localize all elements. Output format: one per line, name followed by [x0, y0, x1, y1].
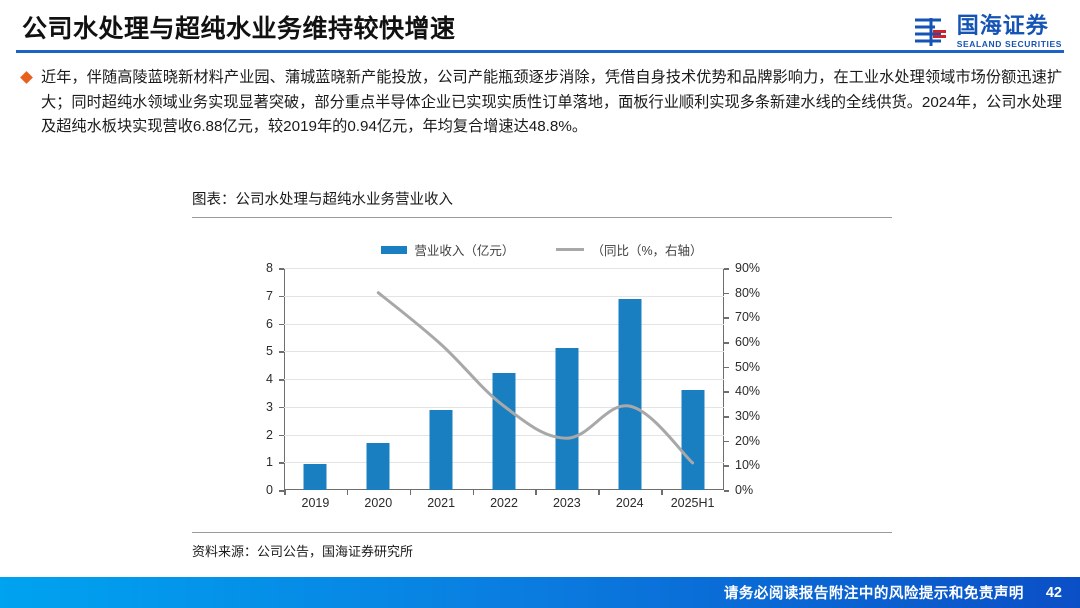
- chart-bar: [493, 373, 516, 490]
- chart-plot-region: 0123456780%10%20%30%40%50%60%70%80%90%: [284, 268, 724, 490]
- legend-bar-swatch-icon: [381, 246, 407, 254]
- y-axis-label-right: 90%: [735, 261, 760, 275]
- legend-label-yoy: （同比（%，右轴）: [591, 240, 702, 259]
- y-axis-tick-right: [724, 416, 729, 418]
- legend-label-revenue: 营业收入（亿元）: [414, 240, 514, 259]
- logo-name-cn: 国海证券: [957, 15, 1062, 37]
- figure-title: 图表：公司水处理与超纯水业务营业收入: [192, 188, 892, 217]
- y-axis-label-right: 40%: [735, 384, 760, 398]
- legend-item-revenue: 营业收入（亿元）: [381, 240, 514, 259]
- y-axis-tick-right: [724, 342, 729, 344]
- y-axis-label-left: 8: [266, 261, 273, 275]
- y-axis-label-left: 0: [266, 483, 273, 497]
- x-axis-tick: [661, 490, 663, 495]
- chart-bar-cell: [598, 268, 661, 490]
- page-header: 公司水处理与超纯水业务维持较快增速 国海证券 SEALAND SECURITIE…: [0, 0, 1080, 58]
- legend-item-yoy: （同比（%，右轴）: [556, 240, 702, 259]
- page-title: 公司水处理与超纯水业务维持较快增速: [22, 9, 456, 45]
- chart-bar: [618, 299, 641, 490]
- y-axis-label-left: 1: [266, 455, 273, 469]
- x-axis-label: 2021: [410, 496, 473, 510]
- x-axis-tick: [410, 490, 412, 495]
- figure-source: 资料来源：公司公告，国海证券研究所: [192, 541, 413, 560]
- page-footer: 请务必阅读报告附注中的风险提示和免责声明 42: [0, 577, 1080, 608]
- y-axis-label-left: 4: [266, 372, 273, 386]
- chart-bar: [681, 390, 704, 490]
- chart-bar-cell: [410, 268, 473, 490]
- x-axis-label: 2024: [598, 496, 661, 510]
- y-axis-label-left: 7: [266, 289, 273, 303]
- y-axis-tick-right: [724, 391, 729, 393]
- y-axis-label-right: 70%: [735, 310, 760, 324]
- y-axis-label-left: 6: [266, 317, 273, 331]
- figure-top-divider: [192, 217, 892, 218]
- x-axis-label: 2025H1: [661, 496, 724, 510]
- y-axis-tick-right: [724, 490, 729, 492]
- chart-bars: [284, 268, 724, 490]
- chart-area: 0123456780%10%20%30%40%50%60%70%80%90% 2…: [192, 268, 892, 518]
- legend-line-swatch-icon: [556, 248, 584, 251]
- figure-block: 图表：公司水处理与超纯水业务营业收入 营业收入（亿元） （同比（%，右轴） 01…: [192, 188, 892, 566]
- x-axis-tick: [347, 490, 349, 495]
- body-paragraph: 近年，伴随高陵蓝晓新材料产业园、蒲城蓝晓新产能投放，公司产能瓶颈逐步消除，凭借自…: [41, 66, 1062, 140]
- chart-x-axis-labels: 2019202020212022202320242025H1: [284, 496, 724, 510]
- sealand-logo-icon: [911, 15, 949, 49]
- header-divider: [16, 50, 1064, 53]
- chart-legend: 营业收入（亿元） （同比（%，右轴）: [192, 240, 892, 259]
- chart-bar: [304, 464, 327, 490]
- x-axis-tick: [535, 490, 537, 495]
- y-axis-label-right: 20%: [735, 434, 760, 448]
- y-axis-label-left: 3: [266, 400, 273, 414]
- chart-bar-cell: [284, 268, 347, 490]
- x-axis-label: 2022: [473, 496, 536, 510]
- x-axis-label: 2020: [347, 496, 410, 510]
- chart-bar-cell: [661, 268, 724, 490]
- x-axis-label: 2023: [535, 496, 598, 510]
- logo-name-en: SEALAND SECURITIES: [957, 40, 1062, 49]
- x-axis-tick: [598, 490, 600, 495]
- chart-bar-cell: [473, 268, 536, 490]
- y-axis-label-left: 5: [266, 344, 273, 358]
- y-axis-tick-right: [724, 317, 729, 319]
- y-axis-label-right: 80%: [735, 286, 760, 300]
- logo-text: 国海证券 SEALAND SECURITIES: [957, 15, 1062, 49]
- y-axis-tick-right: [724, 268, 729, 270]
- footer-disclaimer: 请务必阅读报告附注中的风险提示和免责声明: [724, 582, 1024, 603]
- chart-bar: [367, 443, 390, 490]
- chart-bar: [555, 348, 578, 490]
- chart-bar: [430, 410, 453, 490]
- brand-logo: 国海证券 SEALAND SECURITIES: [911, 12, 1062, 52]
- y-axis-tick-right: [724, 441, 729, 443]
- chart-bar-cell: [535, 268, 598, 490]
- y-axis-label-left: 2: [266, 428, 273, 442]
- footer-page-number: 42: [1046, 585, 1062, 601]
- x-axis-label: 2019: [284, 496, 347, 510]
- y-axis-tick-right: [724, 293, 729, 295]
- chart-bar-cell: [347, 268, 410, 490]
- y-axis-tick-right: [724, 367, 729, 369]
- figure-bottom-divider: [192, 532, 892, 533]
- y-axis-tick-right: [724, 465, 729, 467]
- y-axis-label-right: 0%: [735, 483, 753, 497]
- x-axis-tick: [284, 490, 286, 495]
- y-axis-label-right: 10%: [735, 458, 760, 472]
- y-axis-label-right: 30%: [735, 409, 760, 423]
- y-axis-label-right: 60%: [735, 335, 760, 349]
- x-axis-tick: [473, 490, 475, 495]
- y-axis-label-right: 50%: [735, 360, 760, 374]
- bullet-diamond-icon: [20, 71, 33, 84]
- body-bullet-block: 近年，伴随高陵蓝晓新材料产业园、蒲城蓝晓新产能投放，公司产能瓶颈逐步消除，凭借自…: [22, 66, 1062, 140]
